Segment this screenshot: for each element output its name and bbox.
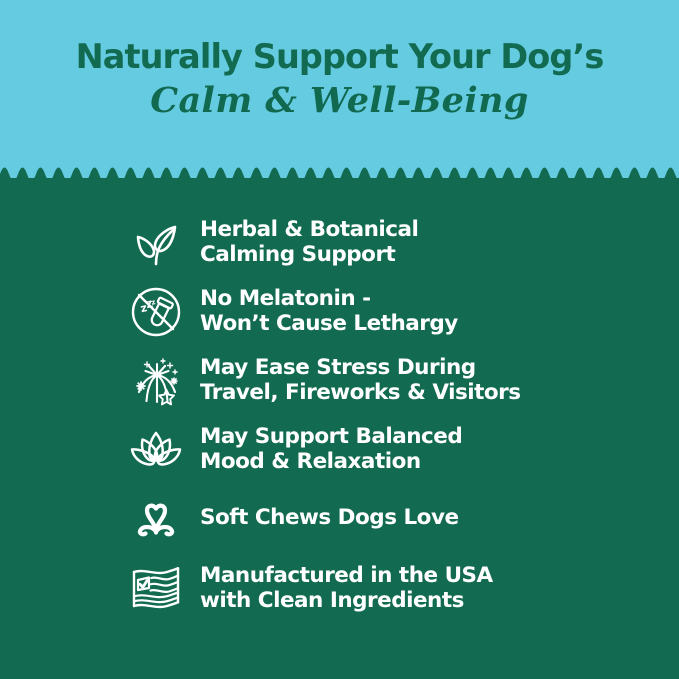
fireworks-icon: [128, 353, 184, 409]
list-item-label: No Melatonin - Won’t Cause Lethargy: [200, 287, 458, 337]
leaf-sprout-icon: [128, 215, 184, 271]
heart-chew-icon: [128, 490, 184, 546]
list-item: Manufactured in the USA with Clean Ingre…: [128, 560, 679, 618]
title-line-2: Calm & Well-Being: [150, 79, 529, 123]
list-item-label: May Ease Stress During Travel, Fireworks…: [200, 356, 521, 406]
list-item-label: Herbal & Botanical Calming Support: [200, 218, 418, 268]
benefits-list: Herbal & Botanical Calming Support z Z z…: [0, 186, 679, 629]
no-melatonin-icon: z Z z: [128, 284, 184, 340]
svg-text:z: z: [150, 298, 156, 307]
page-title: Naturally Support Your Dog’s Calm & Well…: [0, 0, 679, 160]
list-item: Herbal & Botanical Calming Support: [128, 214, 679, 272]
list-item: May Ease Stress During Travel, Fireworks…: [128, 352, 679, 410]
usa-flag-check-icon: [128, 561, 184, 617]
list-item-label: May Support Balanced Mood & Relaxation: [200, 425, 462, 475]
list-item: z Z z No Melatonin - Won’t Cause Letharg…: [128, 283, 679, 341]
list-item-label: Soft Chews Dogs Love: [200, 506, 459, 531]
list-item: May Support Balanced Mood & Relaxation: [128, 421, 679, 479]
lotus-flower-icon: [128, 422, 184, 478]
list-item-label: Manufactured in the USA with Clean Ingre…: [200, 564, 493, 614]
product-benefits-poster: Naturally Support Your Dog’s Calm & Well…: [0, 0, 679, 679]
title-line-1: Naturally Support Your Dog’s: [76, 37, 604, 77]
list-item: Soft Chews Dogs Love: [128, 490, 679, 546]
